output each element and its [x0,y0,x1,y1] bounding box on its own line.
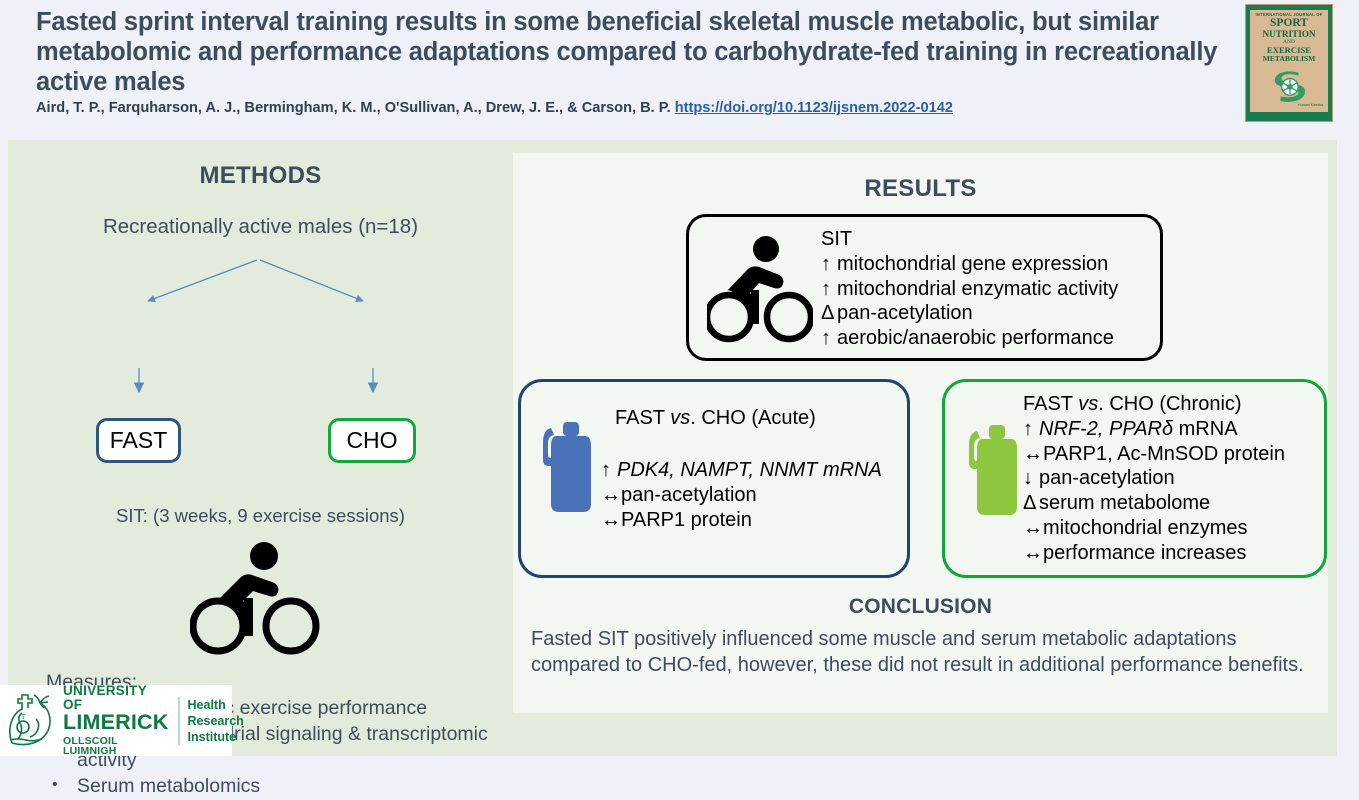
result-line: ↔PARP1 protein [601,508,882,533]
arrow-up-icon: ↑ [821,326,837,351]
result-line: Δserum metabolome [1023,491,1285,516]
arrow-up-icon: ↑ [821,277,837,302]
result-line: ↑NRF-2, PPARδ mRNA [1023,417,1285,442]
cohort-label: Recreationally active males (n=18) [8,215,513,239]
acute-results-lines: ↑PDK4, NAMPT, NNMT mRNA ↔pan-acetylation… [601,458,882,532]
journal-cover-thumbnail: INTERNATIONAL JOURNAL OF SPORT NUTRITION… [1245,4,1333,122]
arrow-bidirectional-icon: ↔ [1023,516,1043,541]
result-line-text: pan-acetylation [621,484,757,506]
result-line-text: pan-acetylation [1039,467,1175,489]
results-heading: RESULTS [513,175,1328,203]
result-line-text: mitochondrial enzymatic activity [837,278,1118,300]
arrow-bidirectional-icon: ↔ [601,483,621,508]
title-block: Fasted sprint interval training results … [36,8,1221,116]
hri-line-1: Health [188,697,244,713]
university-wordmark: UNIVERSITY OF LIMERICK OLLSCOIL LUIMNIGH [63,684,169,757]
cover-line-nutrition: NUTRITION [1252,30,1326,40]
acute-title-vs: vs [670,407,690,429]
methods-flow-arrows [8,240,513,400]
acute-title-pre: FAST [615,407,670,429]
sit-protocol-label: SIT: (3 weeks, 9 exercise sessions) [8,505,513,527]
university-logo-inner: T UNIVERSITY OF LIMERICK OLLSCOIL LUIMNI… [4,691,244,750]
conclusion-panel: CONCLUSION Fasted SIT positively influen… [513,581,1328,713]
arrow-down-icon: ↓ [1023,466,1039,491]
result-line-text: mitochondrial gene expression [837,253,1108,275]
cover-publisher: Human Kinetics [1298,103,1323,107]
delta-icon: Δ [821,301,837,326]
result-line: ↔pan-acetylation [601,483,882,508]
chronic-box-title: FAST vs. CHO (Chronic) [1023,392,1285,417]
cover-line-sport: SPORT [1252,18,1326,30]
wordmark-line-3: OLLSCOIL LUIMNIGH [63,736,169,757]
result-line: ↔performance increases [1023,541,1285,566]
wordmark-line-2: LIMERICK [63,712,169,734]
acute-results-box: FAST vs. CHO (Acute) ↑PDK4, NAMPT, NNMT … [518,379,910,578]
group-label-cho: CHO [346,427,397,454]
university-crest-icon: T [4,693,56,748]
author-list: Aird, T. P., Farquharson, A. J., Berming… [36,100,671,116]
result-line: ↔PARP1, Ac-MnSOD protein [1023,442,1285,467]
sit-results-lines: SIT ↑mitochondrial gene expression ↑mito… [821,227,1118,351]
chronic-title-vs: vs [1078,393,1098,415]
result-line: ↑aerobic/anaerobic performance [821,326,1118,351]
conclusion-heading: CONCLUSION [513,595,1328,619]
cover-band-bottom [1246,112,1332,121]
result-line-text-italic: NRF-2, PPARδ [1039,418,1173,440]
arrow-bidirectional-icon: ↔ [1023,541,1043,566]
cover-line-metabolism: METABOLISM [1252,55,1326,63]
author-byline: Aird, T. P., Farquharson, A. J., Berming… [36,100,1221,116]
water-bottle-icon [541,414,597,518]
arrow-up-icon: ↑ [1023,417,1039,442]
health-research-institute-label: Health Research Institute [188,697,244,745]
page-title: Fasted sprint interval training results … [36,8,1221,97]
university-logo: T UNIVERSITY OF LIMERICK OLLSCOIL LUIMNI… [0,685,232,756]
result-line-text: PARP1 protein [621,509,752,531]
result-line: ↑PDK4, NAMPT, NNMT mRNA [601,458,882,483]
wordmark-line-1: UNIVERSITY OF [63,684,169,711]
group-box-cho[interactable]: CHO [328,418,416,463]
result-line: ↔mitochondrial enzymes [1023,516,1285,541]
result-line-text: mitochondrial enzymes [1043,517,1248,539]
conclusion-text: Fasted SIT positively influenced some mu… [531,626,1321,678]
methods-column: METHODS Recreationally active males (n=1… [8,140,513,756]
list-item: Serum metabolomics [72,774,506,800]
methods-heading: METHODS [8,162,513,190]
water-bottle-icon [967,417,1023,521]
result-line-text: performance increases [1043,542,1246,564]
cyclist-icon [190,538,322,656]
result-line-text: mRNA [1173,418,1237,440]
cover-band-left [1246,5,1250,121]
result-line-text: pan-acetylation [837,302,973,324]
sit-title: SIT [821,227,1118,252]
arrow-bidirectional-icon: ↔ [601,508,621,533]
hri-line-2: Research [188,713,244,729]
result-line: Δpan-acetylation [821,301,1118,326]
main-content-panel: METHODS Recreationally active males (n=1… [8,140,1337,756]
result-line-text: PARP1, Ac-MnSOD protein [1043,443,1285,465]
chronic-title-post: . CHO (Chronic) [1098,393,1241,415]
group-label-fast: FAST [110,427,168,454]
group-box-fast[interactable]: FAST [96,418,181,463]
logo-divider [178,697,180,745]
acute-title-post: . CHO (Acute) [690,407,816,429]
arrow-up-icon: ↑ [821,252,837,277]
cover-text-block: INTERNATIONAL JOURNAL OF SPORT NUTRITION… [1252,12,1326,63]
result-line-text: aerobic/anaerobic performance [837,327,1114,349]
arrow-up-icon: ↑ [601,458,617,483]
result-line: ↓pan-acetylation [1023,466,1285,491]
arrow-bidirectional-icon: ↔ [1023,442,1043,467]
result-line: ↑mitochondrial enzymatic activity [821,277,1118,302]
cover-band-top [1246,5,1332,10]
cover-band-right [1328,5,1332,121]
acute-box-title: FAST vs. CHO (Acute) [615,407,816,430]
result-line: ↑mitochondrial gene expression [821,252,1118,277]
chronic-results-lines: FAST vs. CHO (Chronic) ↑NRF-2, PPARδ mRN… [1023,392,1285,566]
result-line-text: serum metabolome [1039,492,1210,514]
hri-line-3: Institute [188,729,244,745]
delta-icon: Δ [1023,491,1039,516]
svg-text:T: T [21,713,26,721]
doi-link[interactable]: https://doi.org/10.1123/ijsnem.2022-0142 [675,100,953,116]
sit-results-box: SIT ↑mitochondrial gene expression ↑mito… [686,214,1163,361]
header-banner: Fasted sprint interval training results … [0,0,1359,140]
chronic-results-box: FAST vs. CHO (Chronic) ↑NRF-2, PPARδ mRN… [942,379,1327,578]
journal-s-logo-icon [1270,67,1308,103]
result-line-text: PDK4, NAMPT, NNMT mRNA [617,459,882,481]
chronic-title-pre: FAST [1023,393,1078,415]
cyclist-icon [707,233,813,345]
